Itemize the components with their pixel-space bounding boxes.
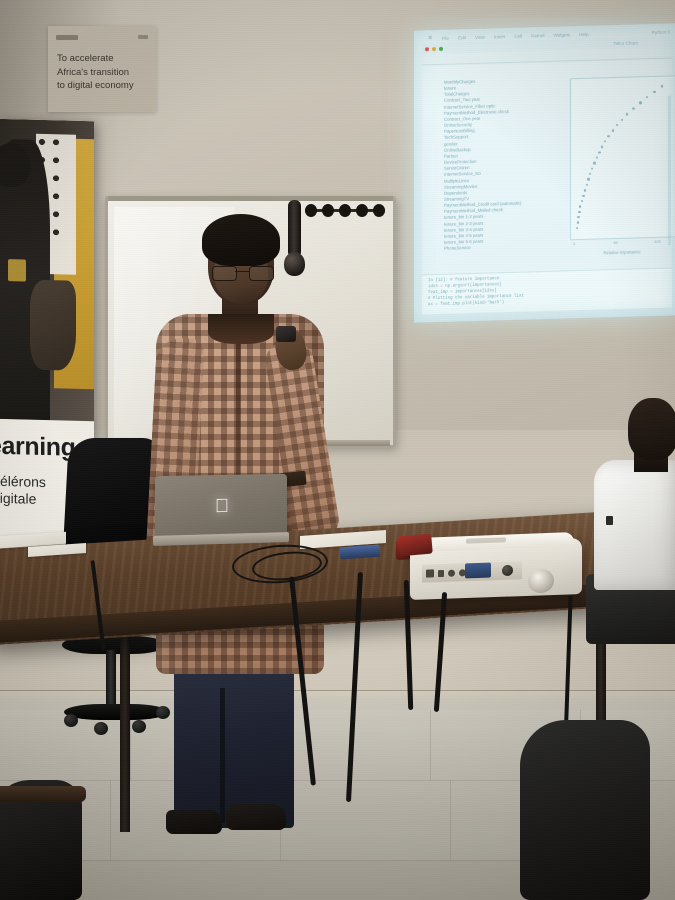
projector-vga-port[interactable] — [465, 563, 491, 579]
office-chair-gas-cylinder — [106, 650, 116, 712]
photo-scene: To accelerate Africa's transition to dig… — [0, 0, 675, 900]
wall-sign: To accelerate Africa's transition to dig… — [48, 26, 156, 112]
feature-importance-list: MonthlyChargestenureTotalChargesContract… — [444, 76, 576, 252]
banner-photo — [0, 119, 94, 421]
scatter-point — [661, 85, 663, 87]
chair-caster — [64, 714, 78, 727]
tunic-collar — [208, 314, 274, 344]
table-leg — [120, 612, 130, 832]
whiteboard-frame-top — [108, 196, 393, 201]
projected-notebook-screen: ⌘ File Edit View Insert Cell Kernel Widg… — [414, 23, 675, 322]
browser-tab-title[interactable]: Telco Churn — [613, 40, 638, 46]
red-adapter-box — [397, 534, 433, 557]
scatter-point — [639, 102, 641, 104]
scatter-point — [626, 113, 628, 115]
menu-item-widgets[interactable]: Widgets — [554, 32, 571, 37]
menu-item-help[interactable]: Help — [579, 31, 588, 36]
sign-logo-secondary-icon — [138, 35, 148, 39]
window-traffic-lights[interactable] — [425, 46, 443, 51]
notebook-output-area: MonthlyChargestenureTotalChargesContract… — [422, 59, 672, 278]
feature-importance-plot: 050100 Relative Importance — [570, 75, 674, 260]
scatter-point — [601, 146, 603, 148]
x-tick-label: 0 — [573, 241, 575, 246]
apple-logo-icon:  — [213, 497, 231, 517]
menu-item-edit[interactable]: Edit — [458, 35, 466, 40]
sign-line-2: Africa's transition — [57, 66, 150, 80]
banner-person-head — [0, 143, 30, 188]
notebook-code-cell[interactable]: In [12]: # feature importanceidxs = np.a… — [422, 267, 672, 314]
presenter-left-shoe — [166, 810, 222, 834]
scatter-point — [577, 221, 579, 223]
chair-caster — [132, 720, 146, 733]
kernel-indicator[interactable]: Python 3 — [652, 29, 670, 35]
scatter-point — [578, 211, 580, 213]
sign-line-1: To accelerate — [57, 52, 150, 66]
notebook-scrollbar[interactable] — [668, 95, 671, 245]
presenter-leg-separation — [220, 688, 225, 823]
scatter-point — [593, 162, 595, 164]
tshirt-logo-icon — [606, 516, 613, 525]
x-tick-label: 50 — [614, 240, 618, 245]
chair-caster — [94, 722, 108, 735]
foreground-chair-right — [520, 720, 650, 900]
foreground-chair-armrest — [0, 786, 86, 802]
x-tick-label: 100 — [654, 239, 661, 244]
eyeglasses-icon — [212, 266, 272, 280]
plot-x-tick-labels: 050100 — [570, 238, 674, 249]
sign-line-3: to digital economy — [57, 79, 150, 93]
sign-text: To accelerate Africa's transition to dig… — [57, 52, 150, 93]
smartphone-icon — [276, 326, 296, 342]
sign-logo-icon — [56, 35, 78, 40]
presenter-trousers — [174, 648, 294, 828]
menu-item-cell[interactable]: Cell — [514, 33, 522, 38]
seated-attendee — [586, 398, 675, 698]
scatter-point — [632, 107, 634, 109]
laptop-lid:  — [155, 474, 287, 538]
menu-item-file[interactable]: File — [442, 35, 449, 40]
sign-header — [56, 33, 148, 41]
menu-item-apple[interactable]: ⌘ — [428, 35, 433, 41]
attendee-head — [628, 398, 675, 460]
scatter-point — [582, 194, 584, 196]
presenter-right-shoe — [226, 804, 286, 830]
scatter-point — [612, 129, 614, 131]
plot-x-axis-label: Relative Importance — [570, 248, 674, 256]
attendee-white-tshirt — [594, 460, 675, 590]
menu-item-kernel[interactable]: Kernel — [531, 33, 544, 38]
macbook-laptop[interactable]:  — [155, 475, 287, 557]
scatter-point — [621, 118, 623, 120]
minimize-icon[interactable] — [432, 47, 436, 51]
presenter-hair — [202, 214, 280, 266]
scatter-point — [587, 178, 589, 180]
banner-person-arms — [30, 280, 76, 371]
maximize-icon[interactable] — [439, 46, 443, 50]
banner-person-badge — [8, 259, 26, 281]
wall-hook-rack — [305, 204, 385, 216]
menu-item-insert[interactable]: Insert — [494, 34, 506, 39]
scatter-point — [607, 135, 609, 137]
menu-item-view[interactable]: View — [475, 34, 485, 39]
video-projector[interactable] — [410, 533, 582, 605]
scatter-point — [576, 227, 578, 229]
plot-axes-frame — [570, 75, 675, 240]
scatter-point — [653, 91, 655, 93]
scatter-point — [598, 151, 600, 153]
close-icon[interactable] — [425, 47, 429, 51]
